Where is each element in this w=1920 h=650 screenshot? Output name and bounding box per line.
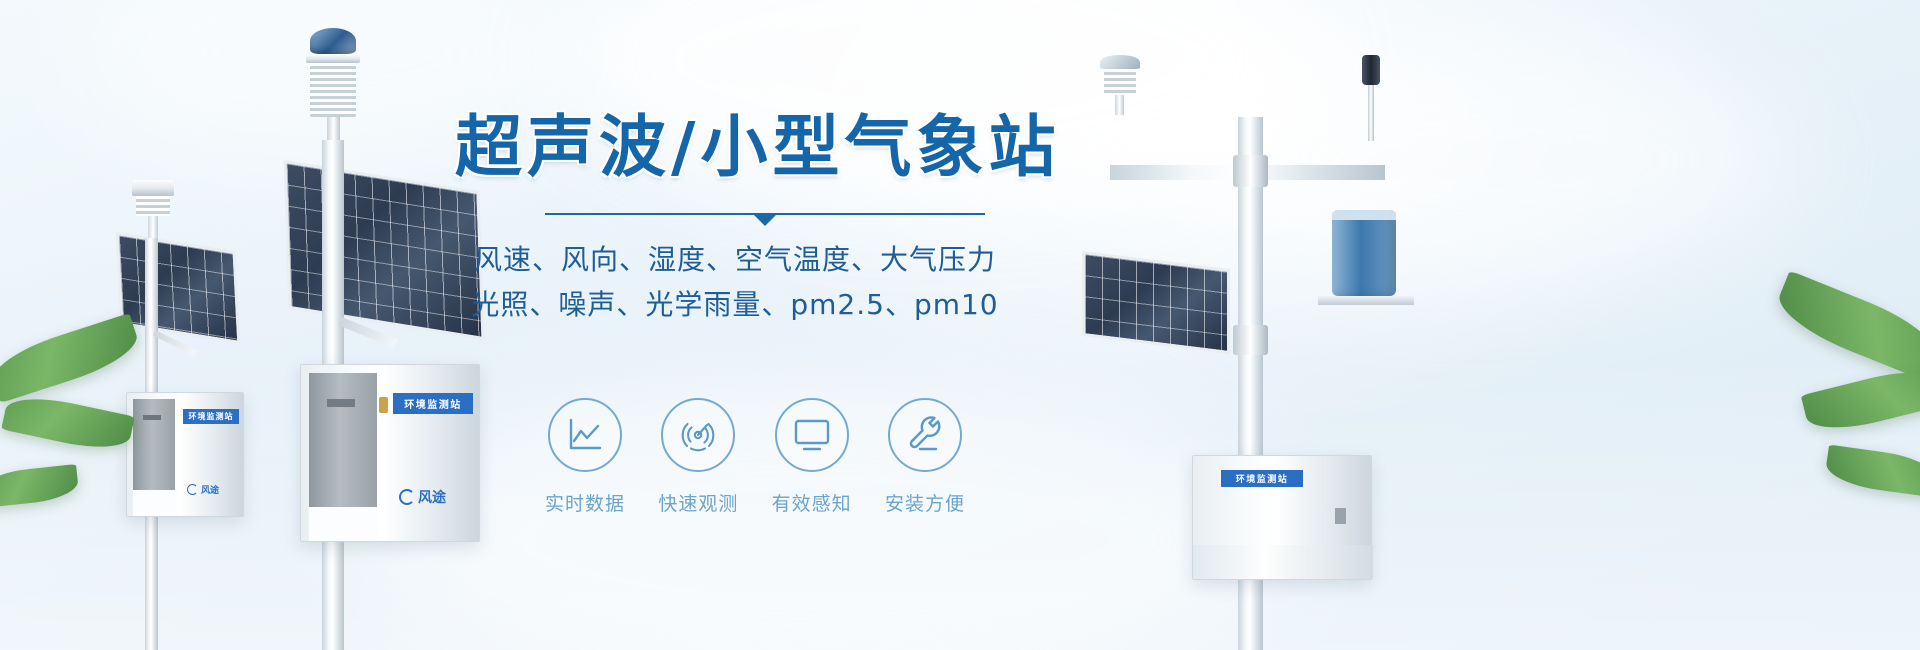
- feature-icon-circle: [548, 398, 622, 472]
- brand-logo: 风途: [399, 487, 446, 507]
- page-title: 超声波/小型气象站: [455, 112, 1055, 183]
- cabinet-label-strip: 环境监测站: [183, 409, 239, 424]
- brand-name: 风途: [418, 487, 446, 507]
- cabinet-label-text: 环境监测站: [404, 396, 462, 411]
- feature-item-fast-observation[interactable]: 快速观测: [652, 398, 744, 516]
- feature-icon-circle: [888, 398, 962, 472]
- pole-collar: [1233, 325, 1268, 355]
- station-right: 环境监测站: [1070, 55, 1430, 650]
- water-tank: [1332, 210, 1396, 296]
- feature-label: 安装方便: [879, 489, 971, 516]
- line-chart-icon: [566, 417, 604, 453]
- weather-sensor-dome: [310, 28, 360, 143]
- brand-mark-icon: [187, 484, 198, 495]
- feature-label: 快速观测: [652, 489, 744, 516]
- feature-icon-circle: [661, 398, 735, 472]
- station-cabinet: 环境监测站: [1192, 455, 1372, 580]
- radar-scan-icon: [678, 415, 718, 455]
- weather-station-banner: 环境监测站 风途 环境监测站: [0, 0, 1920, 650]
- leaf-decoration-right: [1774, 300, 1920, 490]
- tank-shelf: [1318, 296, 1414, 305]
- feature-item-realtime-data[interactable]: 实时数据: [539, 398, 631, 516]
- radiation-shield: [310, 63, 356, 117]
- subtitle-line-2: 光照、噪声、光学雨量、pm2.5、pm10: [455, 282, 1015, 327]
- title-divider: [545, 213, 985, 215]
- brand-logo: 风途: [187, 483, 219, 496]
- ultrasonic-wind-sensor: [1100, 55, 1140, 115]
- banner-text-block: 超声波/小型气象站 风速、风向、湿度、空气温度、大气压力 光照、噪声、光学雨量、…: [455, 112, 1055, 328]
- rain-gauge-sensor: [1362, 55, 1380, 141]
- feature-label: 有效感知: [766, 489, 858, 516]
- feature-item-easy-installation[interactable]: 安装方便: [879, 398, 971, 516]
- feature-icon-circle: [775, 398, 849, 472]
- subtitle-group: 风速、风向、湿度、空气温度、大气压力 光照、噪声、光学雨量、pm2.5、pm10: [455, 237, 1015, 328]
- ultrasonic-sensor-head: [132, 180, 174, 238]
- brand-name: 风途: [201, 483, 219, 496]
- feature-list: 实时数据 快速观测: [455, 398, 1055, 516]
- brand-mark-icon: [399, 489, 415, 505]
- station-cabinet: 环境监测站 风途: [126, 392, 244, 517]
- leaf-decoration-left: [0, 335, 140, 503]
- solar-panel: [1082, 251, 1230, 354]
- feature-item-effective-sensing[interactable]: 有效感知: [766, 398, 858, 516]
- cabinet-label-text: 环境监测站: [1236, 472, 1289, 485]
- monitor-screen-icon: [792, 418, 832, 452]
- wrench-tool-icon: [905, 416, 945, 454]
- cabinet-label-strip: 环境监测站: [1221, 470, 1303, 487]
- subtitle-line-1: 风速、风向、湿度、空气温度、大气压力: [455, 237, 1015, 282]
- cabinet-label-text: 环境监测站: [189, 411, 234, 422]
- feature-label: 实时数据: [539, 489, 631, 516]
- solar-panel: [116, 232, 241, 344]
- station-cabinet: 环境监测站 风途: [300, 364, 480, 542]
- pole-collar: [1233, 155, 1268, 187]
